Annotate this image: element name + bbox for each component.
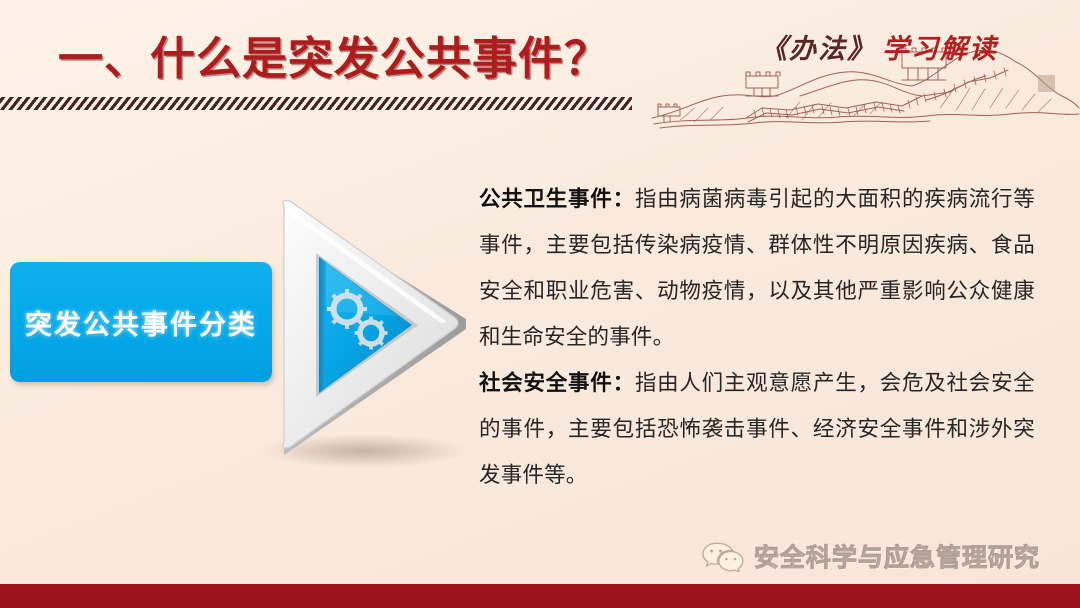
striped-divider	[0, 97, 632, 110]
paragraph-body: 指由病菌病毒引起的大面积的疾病流行等事件，主要包括传染病疫情、群体性不明原因疾病…	[479, 187, 1035, 349]
wechat-icon	[700, 540, 744, 572]
footer-watermark: 安全科学与应急管理研究	[700, 538, 1040, 574]
page-title: 一、什么是突发公共事件？	[58, 22, 610, 87]
play-triangle-graphic	[246, 183, 476, 471]
category-label-text: 突发公共事件分类	[25, 303, 257, 342]
paragraph-lead: 社会安全事件：	[479, 371, 635, 395]
presentation-slide: 一、什么是突发公共事件？	[0, 0, 1080, 608]
calligraphy-accent: 学习解读	[882, 34, 998, 64]
paragraph-social-security: 社会安全事件：指由人们主观意愿产生，会危及社会安全的事件，主要包括恐怖袭击事件、…	[479, 360, 1035, 498]
paragraph-public-health: 公共卫生事件：指由病菌病毒引起的大面积的疾病流行等事件，主要包括传染病疫情、群体…	[479, 176, 1035, 360]
header-calligraphy: 《办法》学习解读	[760, 27, 998, 66]
footer-watermark-text: 安全科学与应急管理研究	[754, 538, 1040, 574]
category-label-box[interactable]: 突发公共事件分类	[10, 262, 272, 382]
body-text-block: 公共卫生事件：指由病菌病毒引起的大面积的疾病流行等事件，主要包括传染病疫情、群体…	[479, 176, 1035, 498]
paragraph-lead: 公共卫生事件：	[479, 187, 635, 211]
slide-header: 一、什么是突发公共事件？	[0, 0, 1080, 130]
seal-stamp-icon	[1038, 75, 1055, 92]
calligraphy-brackets: 《办法》	[760, 34, 876, 64]
footer-bar	[0, 584, 1080, 608]
